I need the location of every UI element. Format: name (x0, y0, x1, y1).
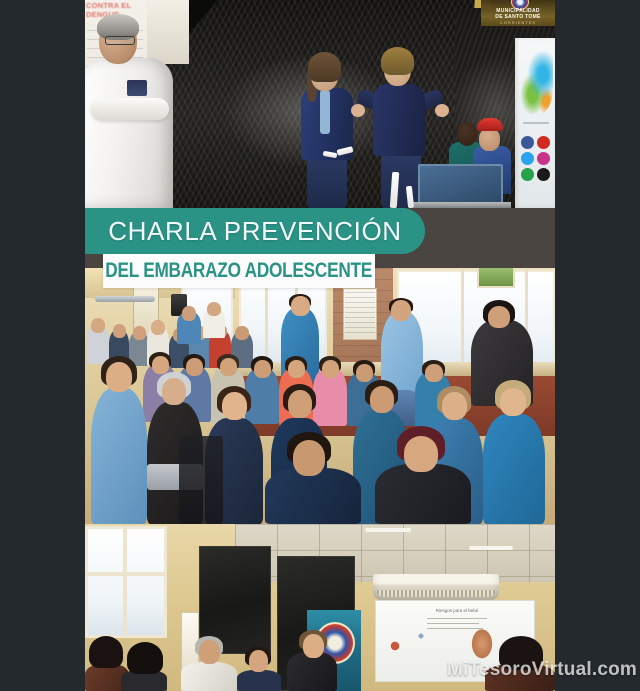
nurse-one-collar-trim (320, 90, 330, 134)
seated-attendee-head (457, 122, 477, 146)
seated-attendee-cap-head (479, 128, 500, 151)
framed-picture (477, 268, 515, 288)
rollup-banner-graphic (519, 48, 553, 114)
facebook-icon (521, 136, 534, 149)
laptop-base (411, 202, 511, 208)
slide-title: Riesgos para el bebé (425, 608, 489, 613)
nurse-two-hair (381, 47, 414, 75)
title-banner-primary-text: CHARLA PREVENCIÓN (108, 216, 401, 247)
doctor-crossed-arms (91, 98, 169, 120)
wall-notice-lines (345, 292, 375, 336)
nurse-two-left-hand (351, 104, 365, 117)
twitter-icon (521, 152, 534, 165)
tiktok-icon (537, 168, 550, 181)
municipal-seal-title: MUNICIPALIDAD DE SANTO TOMÉ (485, 8, 551, 20)
nurse-two-scrubs (373, 84, 425, 156)
title-banner-primary: CHARLA PREVENCIÓN (85, 208, 425, 254)
youtube-icon (537, 136, 550, 149)
doctor-coat-pocket (127, 80, 147, 96)
doctor-eyeglasses (105, 36, 135, 45)
window-mullion-vertical (123, 526, 127, 636)
nurse-one-legs (307, 156, 347, 208)
social-icon-row (521, 136, 551, 198)
ceiling-light-b (469, 546, 513, 550)
municipal-seal-subtitle: CORRIENTES (485, 20, 551, 25)
title-banner-secondary: DEL EMBARAZO ADOLESCENTE (103, 254, 375, 288)
window-mullion-horizontal (85, 572, 167, 576)
nurse-two-legs (381, 152, 421, 208)
ceiling-light-a (365, 528, 411, 532)
watermark: MiTesoroVirtual.com (447, 659, 640, 681)
nurse-one-hair (308, 52, 341, 82)
ceiling-pipe (95, 296, 155, 302)
title-banner-secondary-text: DEL EMBARAZO ADOLESCENTE (106, 259, 373, 283)
laptop-screen (418, 164, 503, 204)
air-conditioner-vent (377, 590, 495, 597)
photo-top: CONTRA EL DENGUE (85, 0, 555, 208)
slide-diagram (385, 628, 443, 664)
photo-collage: CONTRA EL DENGUE (85, 0, 555, 691)
nurse-two-right-hand (435, 104, 449, 117)
wall-poster-second (147, 0, 189, 64)
red-cap (477, 118, 503, 131)
rollup-banner-rule (523, 122, 549, 124)
slide-rule-a (427, 618, 487, 619)
chair-frame (179, 436, 223, 524)
photo-middle (85, 268, 555, 524)
photo-viewer-canvas: CONTRA EL DENGUE (0, 0, 640, 691)
whatsapp-icon (521, 168, 534, 181)
instagram-icon (537, 152, 550, 165)
